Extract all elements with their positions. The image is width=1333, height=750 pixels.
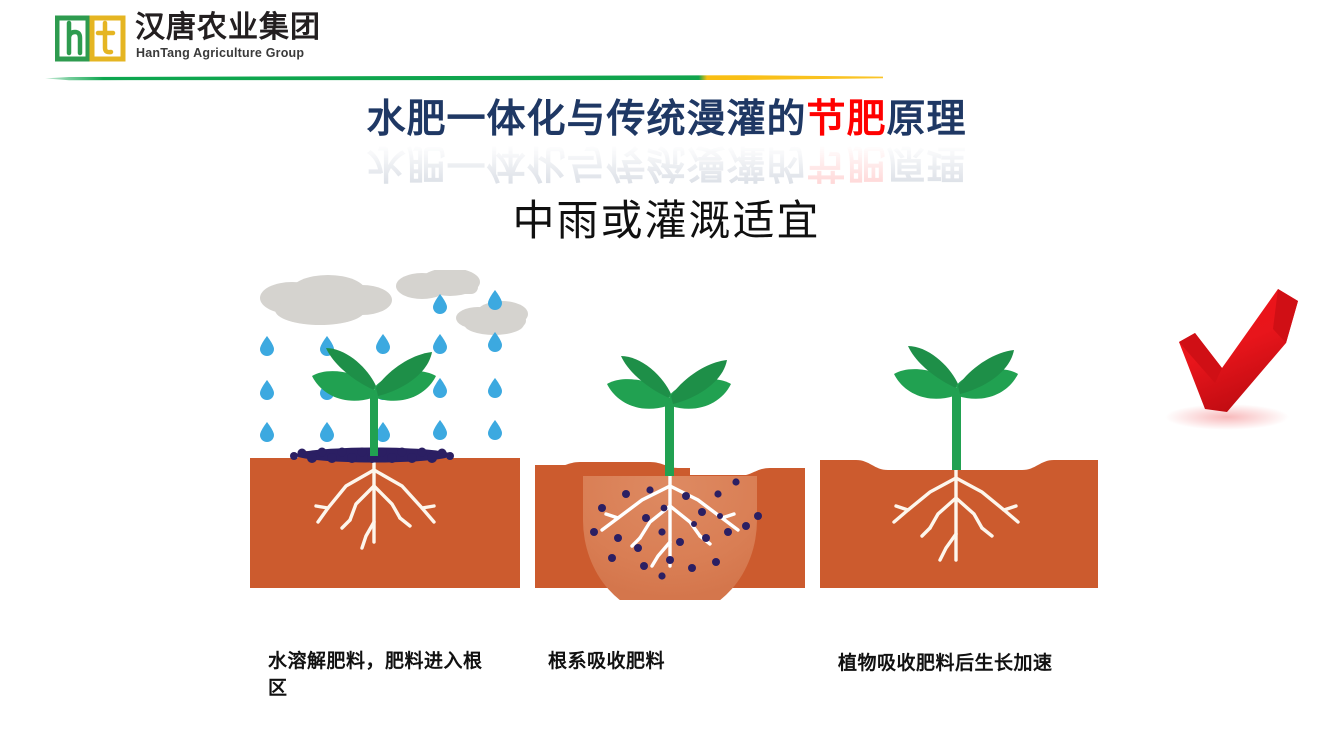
raindrop-icon — [260, 422, 274, 442]
header-divider-rule — [45, 68, 885, 77]
stem — [952, 388, 961, 470]
panel-separator — [521, 445, 534, 595]
page-title-reflection-part-1: 水肥一体化与传统漫灌的 — [366, 141, 806, 184]
hantang-ht-monogram-icon — [55, 15, 127, 62]
seedling — [607, 356, 731, 476]
panel-separator — [806, 445, 819, 595]
raindrop-icon — [433, 334, 447, 354]
stem — [665, 398, 674, 476]
irrigation-comparison-diagram — [250, 270, 1130, 600]
page-title-accent: 节肥 — [806, 98, 886, 141]
page-subtitle: 中雨或灌溉适宜 — [0, 187, 1333, 248]
panel-caption: 水溶解肥料，肥料进入根区 — [268, 648, 498, 702]
panel-caption: 根系吸收肥料 — [548, 648, 788, 675]
panel-root-uptake — [535, 356, 805, 600]
soil-block — [250, 451, 520, 588]
brand-name-cn: 汉唐农业集团 — [135, 12, 321, 44]
stem — [370, 390, 378, 456]
raindrop-icon — [488, 332, 502, 352]
seedling — [894, 346, 1018, 470]
panel-growth — [820, 346, 1098, 588]
raindrop-icon — [260, 380, 274, 400]
brand-name-en: HanTang Agriculture Group — [136, 46, 304, 60]
raindrop-icon — [320, 422, 334, 442]
raindrop-icon — [376, 334, 390, 354]
page-title-reflection-accent: 节肥 — [806, 141, 886, 184]
cloud-icon-group — [260, 270, 528, 335]
page-title-part-2: 原理 — [887, 98, 967, 141]
raindrop-icon — [433, 420, 447, 440]
red-check-mark-icon — [1165, 285, 1315, 445]
page-title-reflection: 水肥一体化与传统漫灌的节肥原理 — [0, 140, 1333, 184]
raindrop-icon — [260, 336, 274, 356]
raindrop-icon — [433, 378, 447, 398]
page-title-part-1: 水肥一体化与传统漫灌的 — [366, 98, 806, 141]
page-title-reflection-part-2: 原理 — [887, 141, 967, 184]
panel-caption: 植物吸收肥料后生长加速 — [838, 650, 1128, 677]
cloud-icon — [396, 270, 480, 299]
page-title: 水肥一体化与传统漫灌的节肥原理 — [0, 98, 1333, 142]
raindrop-icon — [376, 422, 390, 442]
raindrop-icon — [488, 378, 502, 398]
raindrop-icon — [488, 420, 502, 440]
brand-logo: 汉唐农业集团 HanTang Agriculture Group — [55, 12, 355, 67]
cloud-icon — [260, 275, 392, 325]
raindrop-icon — [488, 290, 502, 310]
panel-rain-dissolve — [250, 270, 528, 588]
